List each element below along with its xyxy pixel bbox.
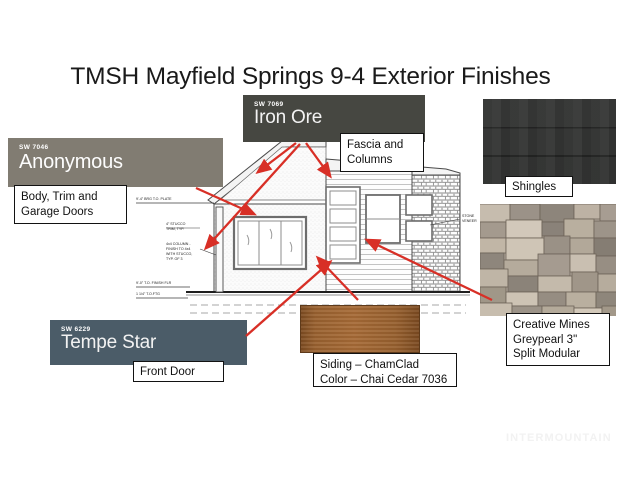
callout-fascia-line1: Fascia and xyxy=(347,138,417,153)
callout-siding-line1: Siding – ChamClad xyxy=(320,358,450,373)
paint-name-tempe-star: Tempe Star xyxy=(61,332,156,354)
callout-siding-line2: Color – Chai Cedar 7036 xyxy=(320,373,450,388)
callout-shingles-label: Shingles xyxy=(512,180,566,195)
svg-text:STONE: STONE xyxy=(462,214,475,218)
paint-name-iron-ore: Iron Ore xyxy=(254,107,322,129)
svg-text:9'-0" T.O. FINISH FLR: 9'-0" T.O. FINISH FLR xyxy=(136,281,172,285)
svg-text:TYP. OF 3: TYP. OF 3 xyxy=(166,257,183,261)
svg-text:1 1/4" T.O.FTG: 1 1/4" T.O.FTG xyxy=(136,292,160,296)
callout-stone-line1: Creative Mines xyxy=(513,318,603,333)
siding-material-swatch xyxy=(300,305,420,353)
callout-front-door-label: Front Door xyxy=(140,365,217,380)
callout-stone: Creative Mines Greypearl 3" Split Modula… xyxy=(506,313,610,366)
svg-text:WITH STUCCO,: WITH STUCCO, xyxy=(166,252,192,256)
callout-fascia-line2: Columns xyxy=(347,153,417,168)
callout-stone-line3: Split Modular xyxy=(513,347,603,362)
watermark: INTERMOUNTAIN xyxy=(506,432,612,444)
callout-siding: Siding – ChamClad Color – Chai Cedar 703… xyxy=(313,353,457,387)
slide-canvas: TMSH Mayfield Springs 9-4 Exterior Finis… xyxy=(0,0,621,480)
paint-swatch-anonymous: SW 7046 Anonymous xyxy=(8,138,223,187)
callout-body-trim-garage: Body, Trim and Garage Doors xyxy=(14,185,127,224)
stone-material-swatch xyxy=(480,204,616,316)
svg-text:FINISH TO 4x4: FINISH TO 4x4 xyxy=(166,247,190,251)
svg-text:4" STUCCO: 4" STUCCO xyxy=(166,222,186,226)
callout-shingles: Shingles xyxy=(505,176,573,197)
callout-fascia-columns: Fascia and Columns xyxy=(340,133,424,172)
callout-stone-line2: Greypearl 3" xyxy=(513,333,603,348)
svg-text:TRIM, TYP.: TRIM, TYP. xyxy=(166,227,184,231)
svg-text:9'-4" BRG T.O. PLATE: 9'-4" BRG T.O. PLATE xyxy=(136,197,172,201)
page-title: TMSH Mayfield Springs 9-4 Exterior Finis… xyxy=(0,63,621,91)
paint-name-anonymous: Anonymous xyxy=(19,151,123,174)
svg-text:VENEER: VENEER xyxy=(462,219,477,223)
callout-body-trim-line1: Body, Trim and xyxy=(21,190,120,205)
shingles-material-swatch xyxy=(483,99,616,184)
paint-code-anonymous: SW 7046 xyxy=(19,144,49,151)
paint-swatch-tempe-star: SW 6229 Tempe Star xyxy=(50,320,247,365)
callout-body-trim-line2: Garage Doors xyxy=(21,205,120,220)
callout-front-door: Front Door xyxy=(133,361,224,382)
svg-text:4x4 COLUMN -: 4x4 COLUMN - xyxy=(166,242,191,246)
